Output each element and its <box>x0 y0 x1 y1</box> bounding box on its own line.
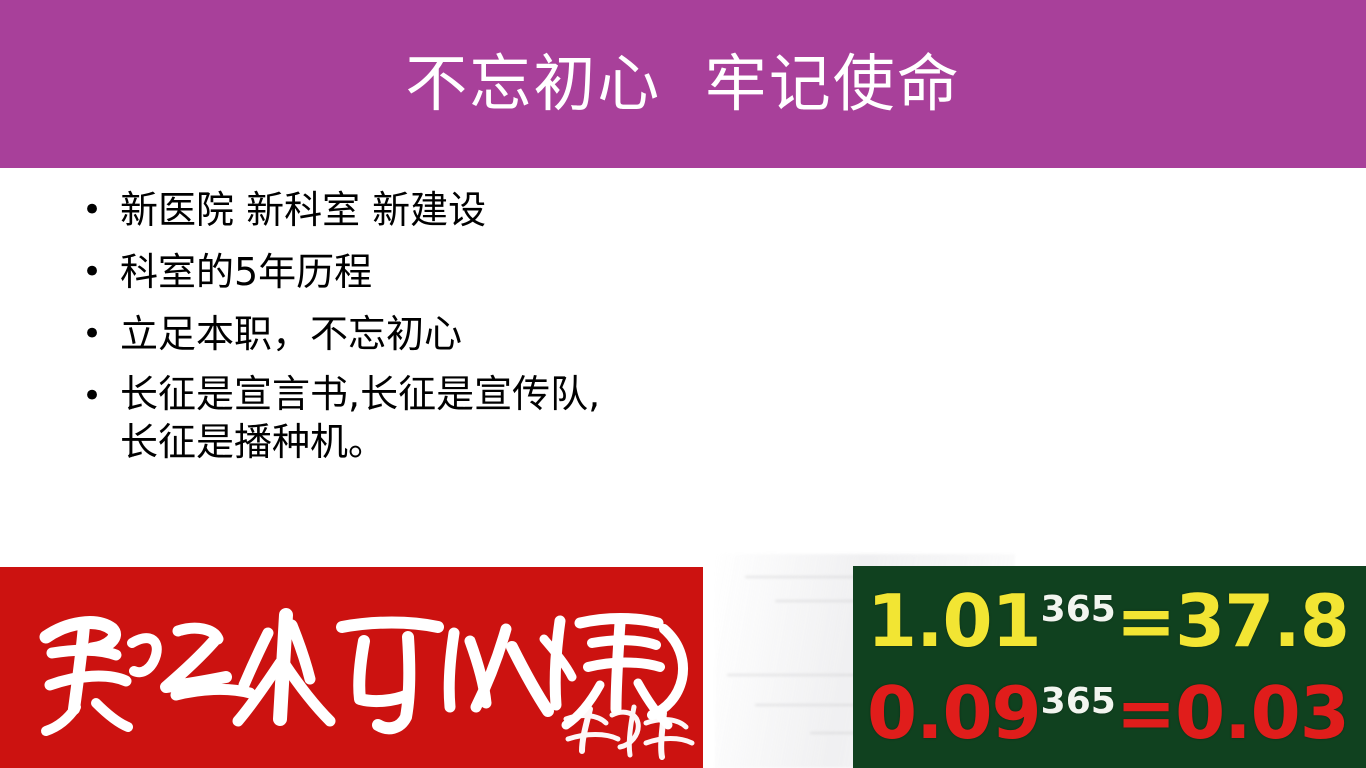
formula-base: 1.01 <box>867 579 1041 663</box>
bullet-list: • 新医院 新科室 新建设 • 科室的5年历程 • 立足本职，不忘初心 • 长征… <box>72 184 772 476</box>
formula-line-growth: 1.01365=37.8 <box>867 575 1366 667</box>
formula-equals: = <box>1116 671 1175 755</box>
calligraphy-image <box>0 567 703 768</box>
bullet-text: 新医院 新科室 新建设 <box>120 184 772 236</box>
bullet-marker-icon: • <box>80 246 104 298</box>
list-item: • 新医院 新科室 新建设 <box>72 184 772 236</box>
bullet-text: 立足本职，不忘初心 <box>120 308 772 360</box>
formula-exponent: 365 <box>1041 681 1116 722</box>
formula-line-decline: 0.09365=0.03 <box>867 667 1366 759</box>
title-banner: 不忘初心 牢记使命 <box>0 0 1366 168</box>
presentation-slide: 不忘初心 牢记使命 • 新医院 新科室 新建设 • 科室的5年历程 • 立足本职… <box>0 0 1366 768</box>
formula-equals: = <box>1116 579 1175 663</box>
calligraphy-strokes <box>0 567 703 768</box>
list-item: • 长征是宣言书,长征是宣传队, 长征是播种机。 <box>72 370 772 466</box>
bullet-text: 科室的5年历程 <box>120 246 772 298</box>
bullet-marker-icon: • <box>80 184 104 236</box>
list-item: • 立足本职，不忘初心 <box>72 308 772 360</box>
bullet-text: 长征是宣言书,长征是宣传队, 长征是播种机。 <box>120 370 772 466</box>
media-row: 1.01365=37.8 0.09365=0.03 <box>0 548 1366 768</box>
bullet-marker-icon: • <box>80 370 104 422</box>
formula-result: 0.03 <box>1175 671 1349 755</box>
formula-base: 0.09 <box>867 671 1041 755</box>
list-item: • 科室的5年历程 <box>72 246 772 298</box>
bullet-marker-icon: • <box>80 308 104 360</box>
formula-result: 37.8 <box>1175 579 1349 663</box>
page-title: 不忘初心 牢记使命 <box>405 50 960 118</box>
formula-exponent: 365 <box>1041 589 1116 630</box>
slide-body: • 新医院 新科室 新建设 • 科室的5年历程 • 立足本职，不忘初心 • 长征… <box>0 168 1366 548</box>
formula-image: 1.01365=37.8 0.09365=0.03 <box>853 566 1366 768</box>
